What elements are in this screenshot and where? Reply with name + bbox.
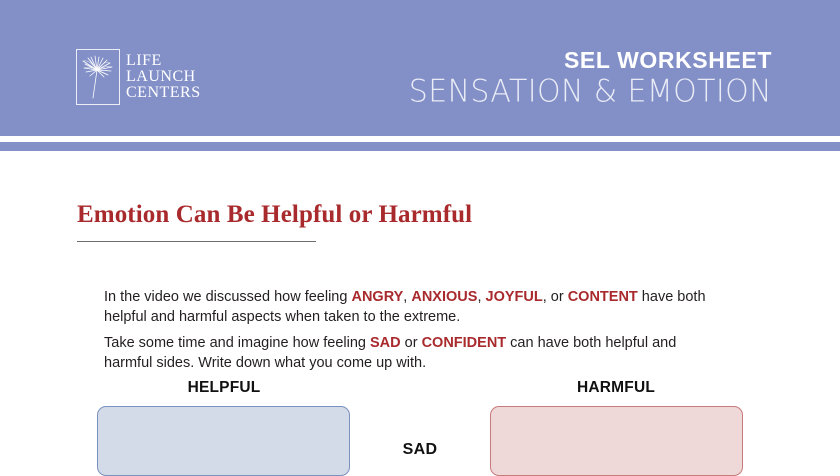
dandelion-seed-icon bbox=[76, 49, 120, 105]
emotion-content: CONTENT bbox=[568, 289, 638, 305]
page-header: LIFE LAUNCH CENTERS SEL WORKSHEET SENSAT… bbox=[0, 0, 840, 136]
worksheet-subject-title: SENSATION & EMOTION bbox=[409, 74, 772, 109]
answer-box-sad-helpful[interactable] bbox=[97, 406, 350, 476]
para1-text-1: In the video we discussed how feeling bbox=[104, 289, 351, 305]
title-divider bbox=[77, 241, 316, 242]
column-header-helpful: HELPFUL bbox=[160, 379, 288, 397]
emotion-angry: ANGRY bbox=[351, 289, 403, 305]
brand-wordmark: LIFE LAUNCH CENTERS bbox=[126, 53, 201, 102]
para2-text-1: Take some time and imagine how feeling bbox=[104, 335, 370, 351]
emotion-sad: SAD bbox=[370, 335, 401, 351]
worksheet-type-title: SEL WORKSHEET bbox=[409, 48, 772, 73]
brand-line-2: LAUNCH bbox=[126, 69, 201, 85]
instruction-paragraph-1: In the video we discussed how feeling AN… bbox=[104, 287, 720, 328]
para2-sep-1: or bbox=[401, 335, 422, 351]
instruction-paragraph-2: Take some time and imagine how feeling S… bbox=[104, 333, 720, 374]
column-header-harmful: HARMFUL bbox=[552, 379, 680, 397]
brand-line-1: LIFE bbox=[126, 53, 201, 69]
emotion-anxious: ANXIOUS bbox=[411, 289, 477, 305]
emotion-joyful: JOYFUL bbox=[486, 289, 543, 305]
header-title-group: SEL WORKSHEET SENSATION & EMOTION bbox=[409, 48, 772, 108]
para1-sep-2: , bbox=[477, 289, 485, 305]
answer-box-sad-harmful[interactable] bbox=[490, 406, 743, 476]
brand-line-3: CENTERS bbox=[126, 85, 201, 101]
emotion-confident: CONFIDENT bbox=[422, 335, 507, 351]
page-title: Emotion Can Be Helpful or Harmful bbox=[77, 201, 472, 229]
brand-logo: LIFE LAUNCH CENTERS bbox=[76, 49, 201, 105]
header-accent-stripe bbox=[0, 142, 840, 151]
row-label-sad: SAD bbox=[370, 441, 470, 459]
para1-sep-3: , or bbox=[543, 289, 568, 305]
